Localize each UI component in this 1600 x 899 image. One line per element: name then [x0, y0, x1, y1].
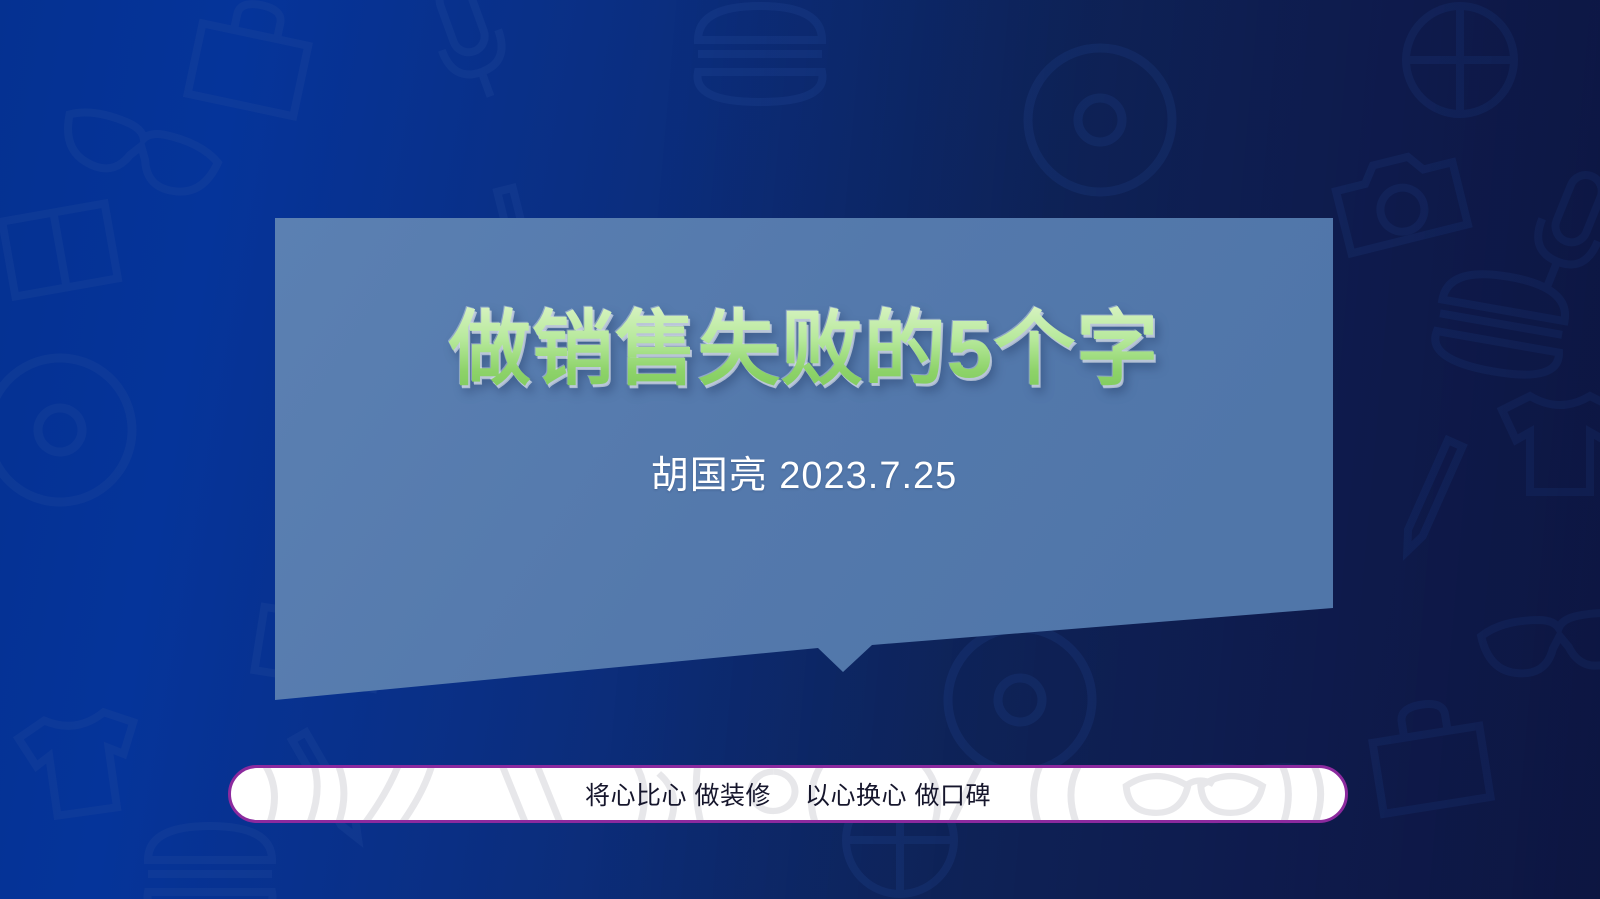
banner-slogan-left: 将心比心 做装修 — [585, 782, 771, 810]
bottom-banner: 将心比心 做装修以心换心 做口碑 — [228, 765, 1348, 823]
slide-subtitle: 胡国亮 2023.7.25 — [651, 454, 958, 500]
bubble-text-block: 做销售失败的5个字 胡国亮 2023.7.25 — [275, 218, 1333, 638]
banner-slogan-right: 以心换心 做口碑 — [805, 782, 991, 810]
presentation-slide: 做销售失败的5个字 胡国亮 2023.7.25 — [0, 0, 1600, 899]
page-title: 做销售失败的5个字 — [449, 304, 1160, 396]
banner-slogan: 将心比心 做装修以心换心 做口碑 — [585, 776, 991, 812]
